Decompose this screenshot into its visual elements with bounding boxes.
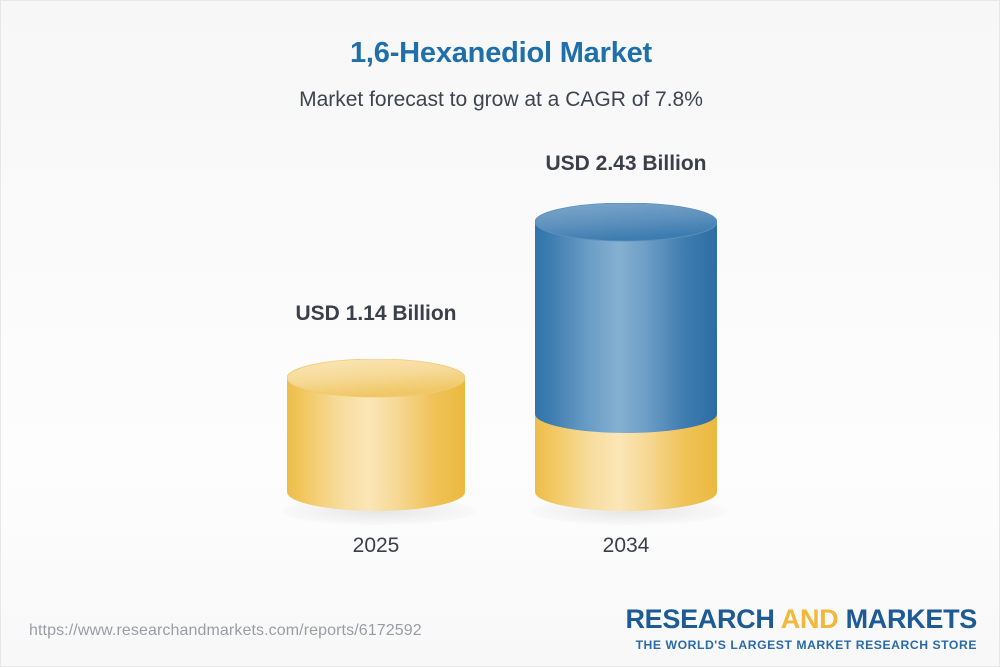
bar-value-label-2025: USD 1.14 Billion	[295, 301, 456, 327]
logo-tagline: THE WORLD'S LARGEST MARKET RESEARCH STOR…	[625, 637, 977, 653]
x-axis-label-2025: 2025	[353, 533, 400, 559]
logo-word-research: RESEARCH	[625, 604, 780, 634]
bar-cylinder-2034	[535, 203, 717, 511]
logo-word-markets: MARKETS	[838, 604, 977, 634]
logo-word-and: AND	[781, 604, 839, 634]
logo-wordmark: RESEARCH AND MARKETS	[625, 604, 977, 634]
bar-value-label-2034: USD 2.43 Billion	[545, 151, 706, 177]
chart-plot-area: USD 1.14 Billion	[1, 1, 1000, 667]
market-infographic: 1,6-Hexanediol Market Market forecast to…	[0, 0, 1000, 667]
bar-cylinder-2025	[287, 359, 465, 511]
research-and-markets-logo[interactable]: RESEARCH AND MARKETS THE WORLD'S LARGEST…	[625, 604, 977, 653]
report-url[interactable]: https://www.researchandmarkets.com/repor…	[29, 622, 422, 640]
x-axis-label-2034: 2034	[603, 533, 650, 559]
